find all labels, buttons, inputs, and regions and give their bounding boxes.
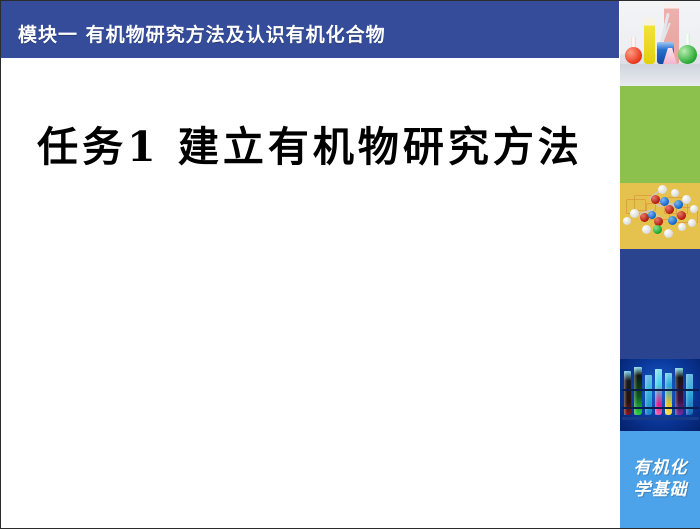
molecule-photo-band	[620, 183, 700, 249]
test-tube-icon	[645, 375, 652, 415]
red-round-flask-icon	[625, 38, 642, 64]
slide-header-title: 模块一 有机物研究方法及认识有机化合物	[18, 20, 386, 47]
navy-color-band	[620, 249, 700, 359]
slide-main-title: 任务1 建立有机物研究方法	[1, 113, 619, 173]
slide-body: 任务1 建立有机物研究方法	[1, 58, 619, 529]
test-tube-photo-band	[620, 359, 700, 431]
caption-band: 有机化 学基础	[620, 431, 700, 529]
shelf-surface	[620, 64, 700, 86]
tube-rack-bar	[622, 407, 699, 409]
green-round-flask-icon	[678, 35, 697, 64]
yellow-graduated-cylinder-icon	[644, 18, 655, 64]
sidebar-caption-line1: 有机化	[620, 457, 700, 479]
sidebar-caption: 有机化 学基础	[620, 457, 700, 501]
slide-sidebar: 有机化 学基础	[620, 1, 700, 529]
glassware-photo-band	[620, 1, 700, 86]
tube-rack-base	[622, 417, 699, 420]
tube-rack-bar	[622, 389, 699, 391]
sidebar-caption-line2: 学基础	[620, 479, 700, 501]
slide-header-bar: 模块一 有机物研究方法及认识有机化合物	[1, 1, 619, 58]
green-color-band	[620, 86, 700, 183]
presentation-slide: 模块一 有机物研究方法及认识有机化合物 任务1 建立有机物研究方法	[0, 0, 700, 529]
